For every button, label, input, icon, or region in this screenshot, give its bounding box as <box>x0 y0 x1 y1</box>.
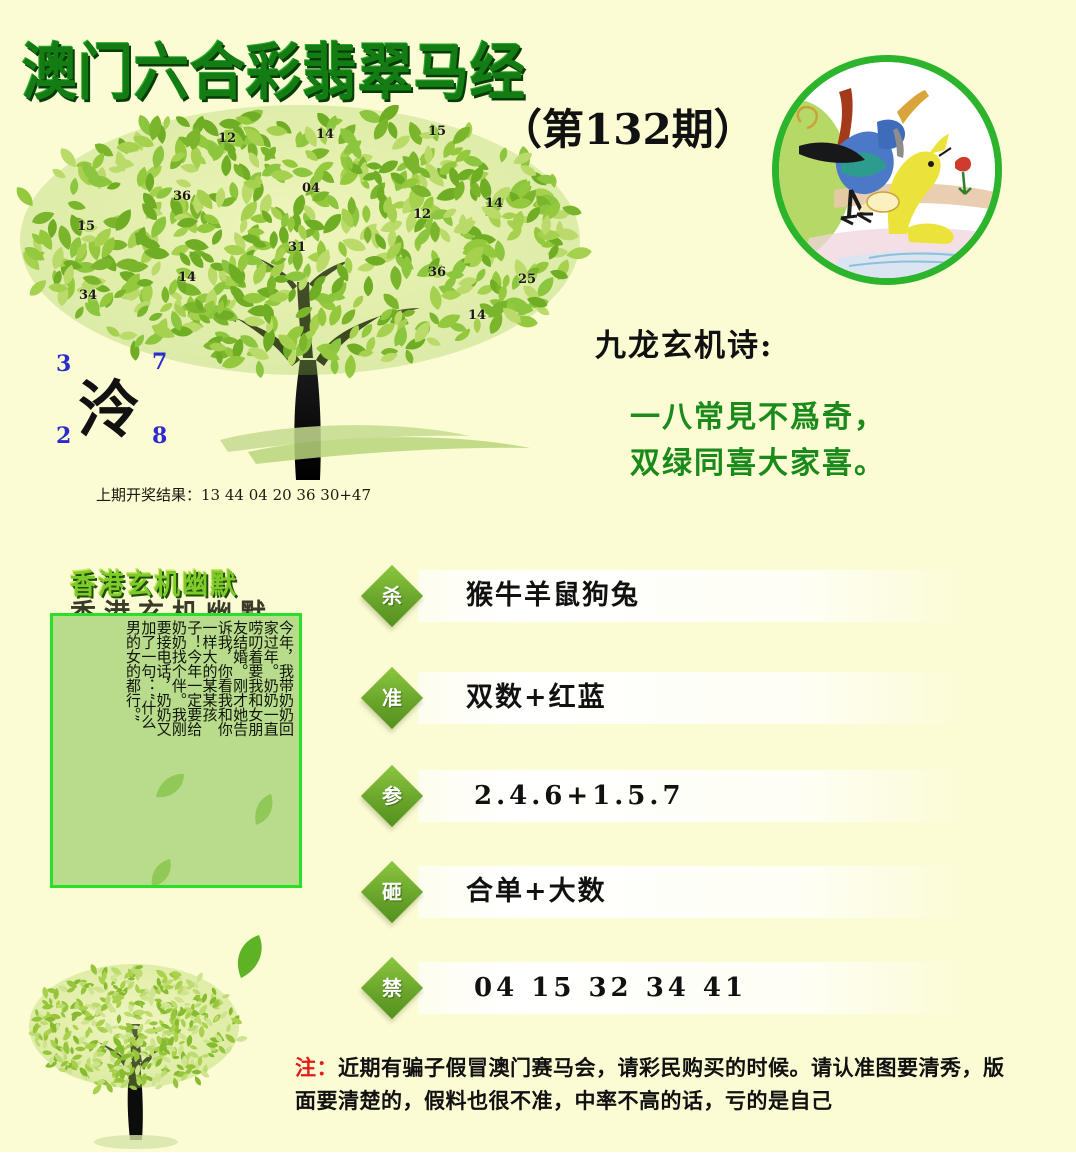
ling-number-top-left: 3 <box>56 351 71 377</box>
prediction-value: 猴牛羊鼠狗兔 <box>466 570 640 622</box>
prediction-badge: 砸 <box>361 861 423 923</box>
prediction-row: 禁04 15 32 34 41 <box>370 962 970 1014</box>
prediction-row: 参2.4.6+1.5.7 <box>370 770 970 822</box>
ling-number-bottom-left: 2 <box>56 423 71 449</box>
leaf-icon <box>251 794 277 826</box>
tree-number: 12 <box>218 131 236 146</box>
tree-number: 14 <box>316 127 334 142</box>
tree-number: 31 <box>288 240 306 255</box>
prediction-badge-label: 准 <box>370 676 414 720</box>
poem-line-1: 一八常見不爲奇， <box>630 392 886 436</box>
ling-number-top-right: 7 <box>152 349 167 375</box>
issue-number: （第132期） <box>500 96 756 157</box>
prediction-badge: 杀 <box>361 565 423 627</box>
tree-number: 12 <box>413 207 431 222</box>
lottery-poster: 1214153604141512311436253414 泠 3 7 2 8 澳… <box>0 0 1076 1171</box>
tree-number: 36 <box>428 265 446 280</box>
page-title: 澳门六合彩翡翠马经 <box>22 22 526 112</box>
prediction-value: 合单+大数 <box>466 866 607 918</box>
tree-number: 36 <box>173 189 191 204</box>
tree-number: 15 <box>428 124 446 139</box>
prediction-badge-label: 杀 <box>370 574 414 618</box>
tree-number: 14 <box>178 270 196 285</box>
prediction-value: 双数+红蓝 <box>466 672 607 724</box>
leaf-icon <box>148 858 176 888</box>
prediction-row: 砸合单+大数 <box>370 866 970 918</box>
bottom-strip <box>0 1152 1076 1171</box>
notice-body: 近期有骗子假冒澳门赛马会，请彩民购买的时候。请认准图要清秀，版面要清楚的，假料也… <box>295 1056 1005 1113</box>
tree-number: 04 <box>302 181 320 196</box>
ling-character-block: 泠 3 7 2 8 <box>40 335 220 465</box>
prediction-value: 2.4.6+1.5.7 <box>474 770 685 822</box>
prediction-badge: 准 <box>361 667 423 729</box>
prediction-value: 04 15 32 34 41 <box>474 962 747 1014</box>
tree-number: 15 <box>77 219 95 234</box>
humor-text-box: 今年，我带奶奶回家过年。奶奶一直唠叨着要我和女朋友结婚。刚才她告诉我，你看我和你… <box>50 613 302 888</box>
tree-number: 14 <box>468 308 486 323</box>
prediction-row: 杀猴牛羊鼠狗兔 <box>370 570 970 622</box>
prediction-row: 准双数+红蓝 <box>370 672 970 724</box>
small-tree-illustration <box>20 940 320 1155</box>
poem-line-2: 双绿同喜大家喜。 <box>630 438 886 482</box>
prediction-badge-label: 禁 <box>370 966 414 1010</box>
leaf-icon <box>153 771 187 805</box>
tree-number: 34 <box>79 288 97 303</box>
prediction-badge: 参 <box>361 765 423 827</box>
ling-number-bottom-right: 8 <box>152 423 167 449</box>
prediction-badge-label: 砸 <box>370 870 414 914</box>
ling-character: 泠 <box>78 359 140 449</box>
humor-text: 今年，我带奶奶回家过年。奶奶一直唠叨着要我和女朋友结婚。刚才她告诉我，你看我和你… <box>55 620 293 740</box>
tree-number: 14 <box>485 196 503 211</box>
prediction-badge-label: 参 <box>370 774 414 818</box>
notice-text: 注：近期有骗子假冒澳门赛马会，请彩民购买的时候。请认准图要清秀，版面要清楚的，假… <box>295 1052 1025 1117</box>
poem-title: 九龙玄机诗: <box>595 320 773 365</box>
prediction-badge: 禁 <box>361 957 423 1019</box>
tree-number: 25 <box>518 272 536 287</box>
notice-prefix: 注： <box>295 1056 338 1080</box>
last-draw-result: 上期开奖结果：13 44 04 20 36 30+47 <box>96 484 371 505</box>
fox-and-crow-illustration <box>772 55 1002 285</box>
